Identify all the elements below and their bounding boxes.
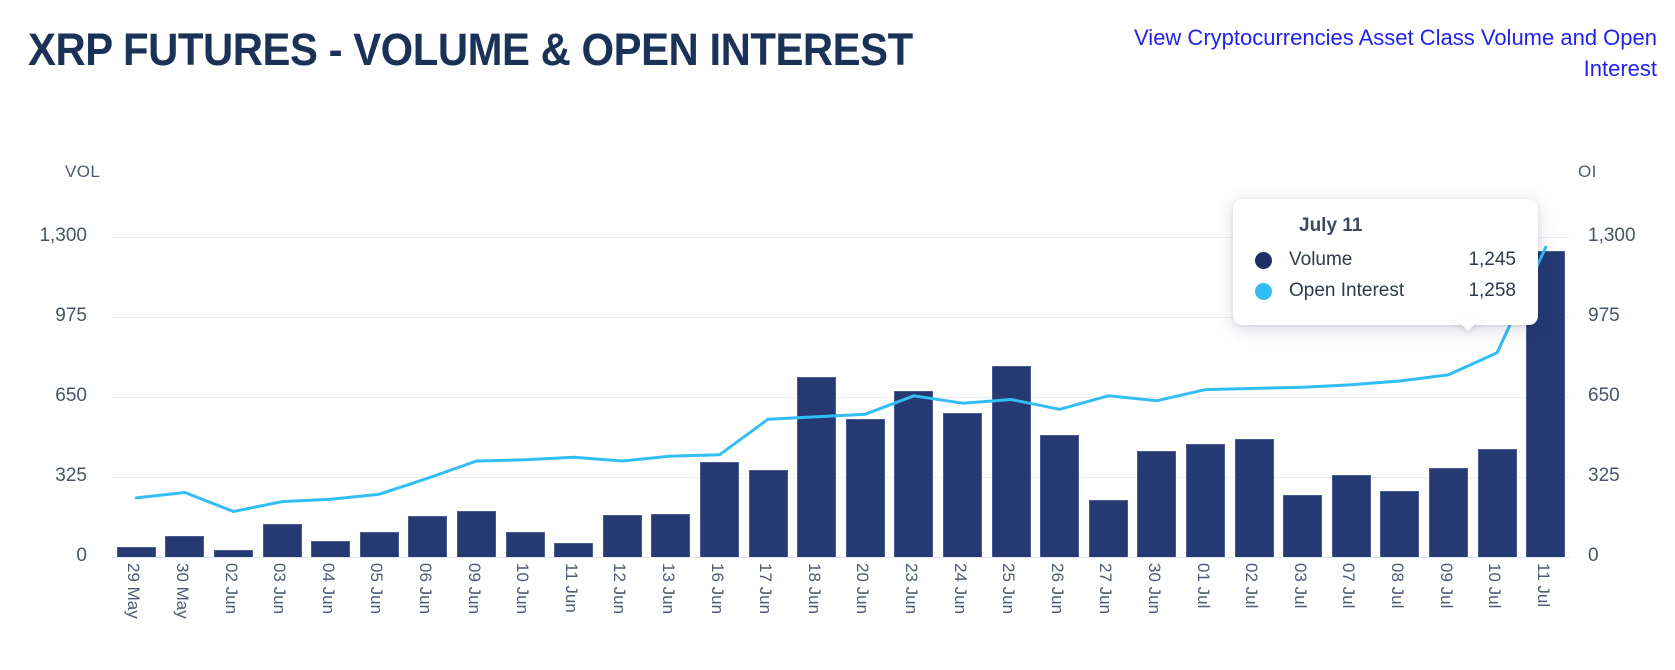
volume-bar[interactable]	[700, 237, 739, 557]
left-tick-label: 0	[76, 545, 87, 567]
tooltip-row-volume: Volume 1,245	[1255, 249, 1516, 271]
left-tick-label: 1,300	[39, 225, 87, 247]
asset-class-link[interactable]: View Cryptocurrencies Asset Class Volume…	[1097, 22, 1657, 84]
page-header: XRP FUTURES - VOLUME & OPEN INTEREST Vie…	[0, 0, 1675, 120]
x-axis-label: 17 Jun	[755, 563, 775, 614]
gridline	[112, 557, 1570, 558]
x-axis-label: 02 Jun	[221, 563, 241, 614]
bar-rect	[1089, 500, 1128, 557]
right-tick-label: 650	[1588, 385, 1620, 407]
right-tick-label: 325	[1588, 465, 1620, 487]
x-axis-label: 02 Jul	[1241, 563, 1261, 608]
x-axis-label: 29 May	[123, 563, 143, 619]
bar-rect	[1478, 449, 1517, 557]
bar-rect	[1332, 475, 1371, 557]
bar-rect	[1235, 439, 1274, 557]
x-axis-label: 20 Jun	[852, 563, 872, 614]
right-tick-label: 0	[1588, 545, 1599, 567]
volume-bar[interactable]	[263, 237, 302, 557]
volume-bar[interactable]	[943, 237, 982, 557]
volume-bar[interactable]	[797, 237, 836, 557]
x-axis-label: 12 Jun	[609, 563, 629, 614]
volume-bar[interactable]	[992, 237, 1031, 557]
bar-rect	[943, 413, 982, 557]
x-axis-label: 10 Jul	[1484, 563, 1504, 608]
bar-rect	[700, 462, 739, 557]
bar-rect	[1283, 495, 1322, 557]
left-axis-title: VOL	[65, 162, 100, 182]
tooltip-row-open-interest: Open Interest 1,258	[1255, 280, 1516, 302]
bar-rect	[749, 470, 788, 557]
x-axis-label: 09 Jul	[1436, 563, 1456, 608]
right-tick-label: 975	[1588, 305, 1620, 327]
bar-rect	[117, 547, 156, 557]
volume-bar[interactable]	[846, 237, 885, 557]
x-axis-label: 18 Jun	[804, 563, 824, 614]
tooltip-value-open-interest: 1,258	[1468, 280, 1516, 302]
bar-rect	[408, 516, 447, 557]
right-axis-title: OI	[1578, 162, 1597, 182]
x-axis-label: 09 Jun	[464, 563, 484, 614]
bar-rect	[651, 514, 690, 557]
volume-bar[interactable]	[603, 237, 642, 557]
open-interest-legend-dot-icon	[1255, 283, 1272, 300]
bar-rect	[1429, 468, 1468, 557]
volume-bar[interactable]	[214, 237, 253, 557]
bar-rect	[457, 511, 496, 557]
volume-bar[interactable]	[360, 237, 399, 557]
bar-rect	[603, 515, 642, 557]
volume-bar[interactable]	[749, 237, 788, 557]
tooltip-value-volume: 1,245	[1468, 249, 1516, 271]
x-axis-label: 23 Jun	[901, 563, 921, 614]
bar-rect	[165, 536, 204, 557]
volume-bar[interactable]	[408, 237, 447, 557]
tooltip-pointer-icon	[1455, 318, 1481, 331]
volume-bar[interactable]	[894, 237, 933, 557]
volume-bar[interactable]	[165, 237, 204, 557]
bar-rect	[1137, 451, 1176, 557]
bar-rect	[1040, 435, 1079, 557]
bar-rect	[263, 524, 302, 557]
left-tick-label: 650	[55, 385, 87, 407]
x-axis-label: 01 Jul	[1193, 563, 1213, 608]
x-axis-label: 10 Jun	[512, 563, 532, 614]
x-axis-label: 03 Jul	[1290, 563, 1310, 608]
volume-bar[interactable]	[311, 237, 350, 557]
x-axis-label: 05 Jun	[366, 563, 386, 614]
x-axis-label: 16 Jun	[707, 563, 727, 614]
x-axis-label: 30 Jun	[1144, 563, 1164, 614]
bar-rect	[360, 532, 399, 557]
x-axis-label: 13 Jun	[658, 563, 678, 614]
x-axis-label: 27 Jun	[1095, 563, 1115, 614]
volume-legend-dot-icon	[1255, 252, 1272, 269]
bar-rect	[992, 366, 1031, 557]
volume-bar[interactable]	[506, 237, 545, 557]
x-axis-label: 11 Jun	[561, 563, 581, 613]
volume-bar[interactable]	[117, 237, 156, 557]
bar-rect	[797, 377, 836, 557]
bar-rect	[846, 419, 885, 557]
volume-bar[interactable]	[1040, 237, 1079, 557]
x-axis-label: 04 Jun	[318, 563, 338, 614]
volume-bar[interactable]	[1089, 237, 1128, 557]
x-axis-labels: 29 May30 May02 Jun03 Jun04 Jun05 Jun06 J…	[112, 563, 1570, 670]
bar-rect	[554, 543, 593, 557]
volume-bar[interactable]	[554, 237, 593, 557]
left-tick-label: 975	[55, 305, 87, 327]
tooltip-label-open-interest: Open Interest	[1289, 280, 1468, 302]
bar-rect	[894, 391, 933, 557]
right-tick-label: 1,300	[1588, 225, 1636, 247]
volume-bar[interactable]	[1137, 237, 1176, 557]
bar-rect	[311, 541, 350, 557]
bar-rect	[1380, 491, 1419, 557]
x-axis-label: 11 Jul	[1533, 563, 1553, 607]
x-axis-label: 30 May	[172, 563, 192, 619]
bar-rect	[1186, 444, 1225, 557]
tooltip-date: July 11	[1255, 215, 1516, 237]
x-axis-label: 25 Jun	[998, 563, 1018, 614]
x-axis-label: 03 Jun	[269, 563, 289, 614]
tooltip-label-volume: Volume	[1289, 249, 1468, 271]
volume-bar[interactable]	[1186, 237, 1225, 557]
x-axis-label: 08 Jul	[1387, 563, 1407, 608]
volume-bar[interactable]	[651, 237, 690, 557]
volume-bar[interactable]	[457, 237, 496, 557]
bar-rect	[214, 550, 253, 557]
x-axis-label: 06 Jun	[415, 563, 435, 614]
left-tick-label: 325	[55, 465, 87, 487]
chart-tooltip: July 11 Volume 1,245 Open Interest 1,258	[1233, 199, 1538, 325]
chart-page: XRP FUTURES - VOLUME & OPEN INTEREST Vie…	[0, 0, 1675, 670]
x-axis-label: 07 Jul	[1338, 563, 1358, 608]
page-title: XRP FUTURES - VOLUME & OPEN INTEREST	[28, 24, 913, 76]
bar-rect	[506, 532, 545, 557]
x-axis-label: 26 Jun	[1047, 563, 1067, 614]
x-axis-label: 24 Jun	[950, 563, 970, 614]
